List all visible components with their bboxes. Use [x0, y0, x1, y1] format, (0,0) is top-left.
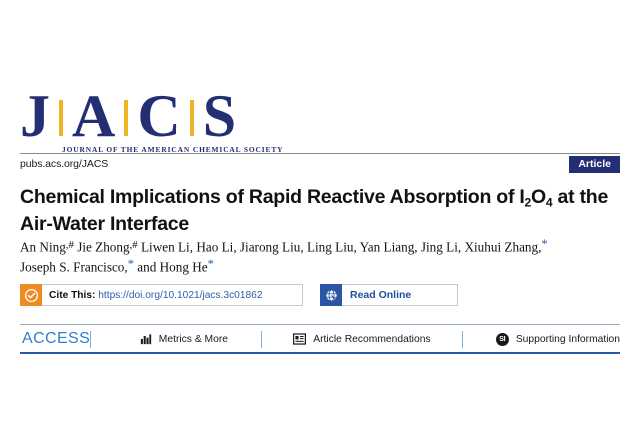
article-header-page: J A C S JOURNAL OF THE AMERICAN CHEMICAL…: [0, 0, 640, 429]
author-mark-star-2: *: [128, 257, 134, 271]
bar-chart-icon: [140, 333, 152, 345]
title-text-part1: Chemical Implications of Rapid Reactive …: [20, 186, 525, 208]
author-jing-li[interactable]: Jing Li: [421, 240, 458, 255]
author-hao-li[interactable]: Hao Li: [196, 240, 233, 255]
author-joseph-s-francisco[interactable]: Joseph S. Francisco: [20, 259, 124, 274]
pubs-line: pubs.acs.org/JACS Article: [20, 156, 620, 172]
cite-read-row: Cite This: https://doi.org/10.1021/jacs.…: [20, 284, 620, 308]
author-mark-star-3: *: [208, 257, 214, 271]
access-bar-bottom-rule: [20, 352, 620, 354]
masthead-rule: [20, 153, 620, 154]
logo-letter-c: C: [137, 88, 180, 144]
read-online-label: Read Online: [350, 289, 411, 301]
author-an-ning[interactable]: An Ning: [20, 240, 66, 255]
author-jie-zhong[interactable]: Jie Zhong: [77, 240, 129, 255]
access-divider-2: [261, 331, 262, 348]
globe-icon: [320, 284, 342, 306]
author-yan-liang[interactable]: Yan Liang: [360, 240, 415, 255]
check-circle-icon: [20, 284, 42, 306]
access-bar: ACCESS Metrics & More: [20, 326, 620, 352]
logo-divider-bar-2: [124, 100, 128, 136]
author-hong-he[interactable]: Hong He: [160, 259, 208, 274]
cite-label-text: Cite This:: [49, 290, 95, 301]
access-divider-1: [90, 331, 91, 348]
article-recommendations-icon: [293, 333, 306, 345]
author-xiuhui-zhang[interactable]: Xiuhui Zhang: [464, 240, 538, 255]
logo-letter-s: S: [203, 88, 236, 144]
pubs-url-link[interactable]: pubs.acs.org/JACS: [20, 158, 108, 170]
article-recommendations-link[interactable]: Article Recommendations: [293, 333, 430, 345]
si-badge-icon: SI: [496, 333, 509, 346]
article-recommendations-label: Article Recommendations: [313, 334, 430, 345]
article-type-badge: Article: [569, 156, 620, 173]
author-list: An Ning,# Jie Zhong,# Liwen Li, Hao Li, …: [20, 236, 626, 275]
read-online-button[interactable]: Read Online: [320, 284, 458, 306]
access-bar-top-rule: [20, 324, 620, 325]
supporting-information-link[interactable]: SI Supporting Information: [496, 333, 620, 346]
logo-letter-j: J: [20, 88, 50, 144]
author-mark-hash-1: ,#: [66, 239, 74, 251]
metrics-and-more-label: Metrics & More: [159, 334, 228, 345]
author-mark-hash-2: ,#: [130, 239, 138, 251]
metrics-and-more-link[interactable]: Metrics & More: [140, 333, 228, 345]
access-divider-3: [462, 331, 463, 348]
author-liwen-li[interactable]: Liwen Li: [141, 240, 190, 255]
jacs-logo: J A C S: [20, 88, 620, 144]
title-text-o: O: [531, 186, 546, 208]
supporting-information-label: Supporting Information: [516, 334, 620, 345]
author-ling-liu[interactable]: Ling Liu: [307, 240, 354, 255]
access-label[interactable]: ACCESS: [22, 330, 90, 348]
logo-letter-a: A: [72, 88, 115, 144]
cite-this-label: Cite This: https://doi.org/10.1021/jacs.…: [49, 290, 263, 301]
cite-doi-link[interactable]: https://doi.org/10.1021/jacs.3c01862: [98, 290, 262, 301]
article-title: Chemical Implications of Rapid Reactive …: [20, 186, 620, 235]
logo-divider-bar-1: [59, 100, 63, 136]
author-mark-star-1: *: [541, 237, 547, 251]
cite-this-box[interactable]: Cite This: https://doi.org/10.1021/jacs.…: [20, 284, 303, 306]
journal-masthead: J A C S JOURNAL OF THE AMERICAN CHEMICAL…: [20, 88, 620, 154]
author-jiarong-liu[interactable]: Jiarong Liu: [240, 240, 300, 255]
logo-divider-bar-3: [190, 100, 194, 136]
